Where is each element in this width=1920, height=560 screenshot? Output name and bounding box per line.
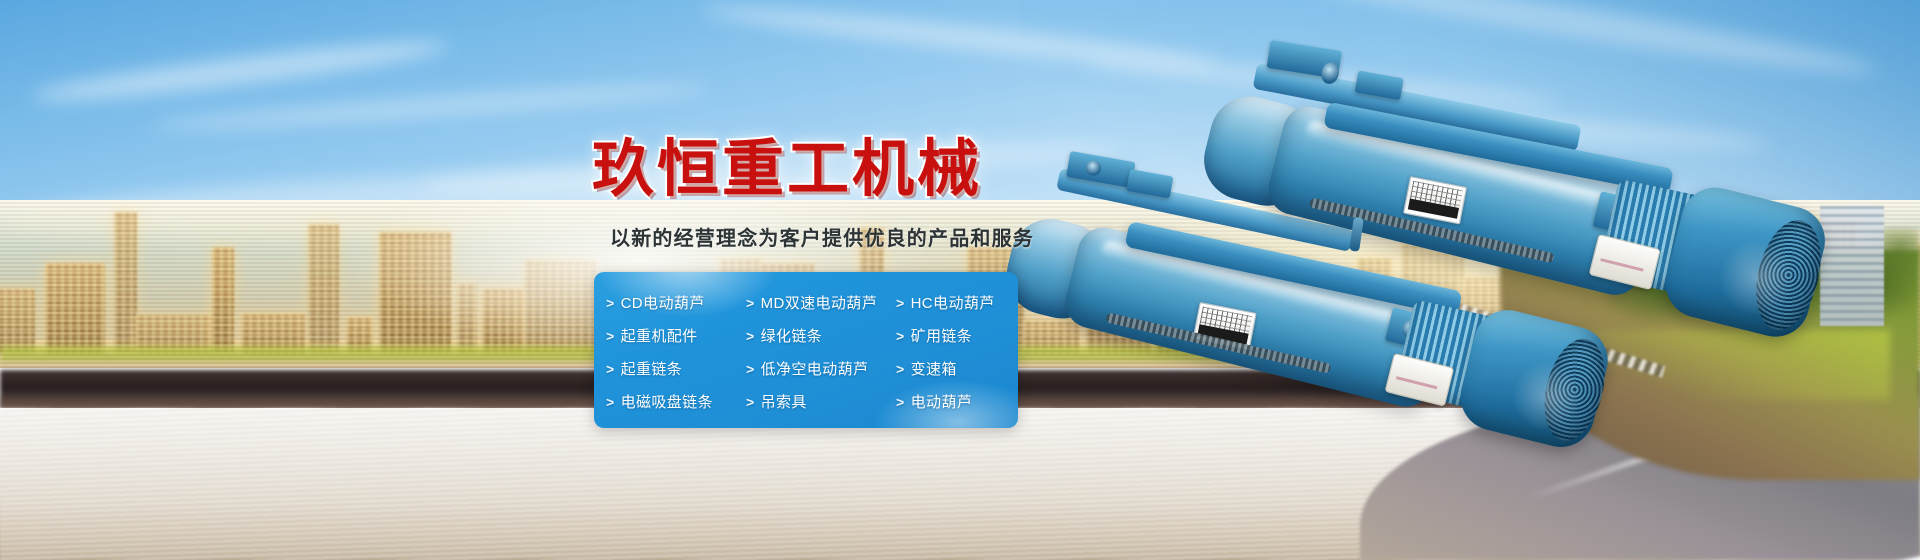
product-link[interactable]: >MD双速电动葫芦 (746, 292, 896, 313)
page-title: 玖恒重工机械 (592, 118, 982, 208)
lane-marking (1449, 548, 1920, 560)
building (0, 288, 35, 354)
product-link-label: 电磁吸盘链条 (621, 391, 713, 412)
product-link[interactable]: >起重链条 (606, 358, 746, 379)
building (457, 283, 477, 354)
building (45, 263, 105, 354)
chevron-right-icon: > (896, 394, 905, 410)
chevron-right-icon: > (896, 328, 905, 344)
chevron-right-icon: > (606, 394, 615, 410)
building (524, 260, 596, 354)
product-link[interactable]: >HC电动葫芦 (896, 292, 1030, 313)
hoist-junction-box-label (1396, 376, 1437, 389)
product-link-label: 低净空电动葫芦 (761, 358, 869, 379)
product-link[interactable]: >CD电动葫芦 (606, 292, 746, 313)
product-link-label: 变速箱 (911, 358, 957, 379)
product-links-grid: >CD电动葫芦>MD双速电动葫芦>HC电动葫芦>起重机配件>绿化链条>矿用链条>… (594, 286, 1018, 418)
product-link-label: 绿化链条 (761, 325, 823, 346)
hero-banner: 玖恒重工机械 以新的经营理念为客户提供优良的产品和服务 >CD电动葫芦>MD双速… (0, 0, 1920, 560)
building (212, 247, 234, 354)
product-link-label: CD电动葫芦 (621, 292, 705, 313)
chevron-right-icon: > (606, 361, 615, 377)
background-tower (1820, 206, 1884, 326)
chevron-right-icon: > (606, 328, 615, 344)
product-link-label: 吊索具 (761, 391, 807, 412)
hoist-junction-box-label (1601, 258, 1644, 271)
chevron-right-icon: > (896, 295, 905, 311)
product-link-label: MD双速电动葫芦 (761, 292, 878, 313)
chevron-right-icon: > (606, 295, 615, 311)
product-link[interactable]: >绿化链条 (746, 325, 896, 346)
product-link-label: HC电动葫芦 (911, 292, 995, 313)
product-link-label: 起重链条 (621, 358, 683, 379)
product-link-label: 矿用链条 (911, 325, 973, 346)
product-link[interactable]: >变速箱 (896, 358, 1030, 379)
chevron-right-icon: > (746, 295, 755, 311)
product-link-label: 电动葫芦 (911, 391, 973, 412)
product-links-panel: >CD电动葫芦>MD双速电动葫芦>HC电动葫芦>起重机配件>绿化链条>矿用链条>… (594, 272, 1018, 428)
product-link[interactable]: >低净空电动葫芦 (746, 358, 896, 379)
building (482, 288, 524, 354)
building (308, 224, 339, 354)
building (379, 232, 451, 354)
chevron-right-icon: > (746, 394, 755, 410)
product-link[interactable]: >电动葫芦 (896, 391, 1030, 412)
product-link[interactable]: >电磁吸盘链条 (606, 391, 746, 412)
product-link[interactable]: >起重机配件 (606, 325, 746, 346)
product-link-label: 起重机配件 (621, 325, 698, 346)
page-subtitle: 以新的经营理念为客户提供优良的产品和服务 (610, 222, 1034, 251)
building (114, 212, 137, 354)
product-link[interactable]: >吊索具 (746, 391, 896, 412)
chevron-right-icon: > (746, 361, 755, 377)
product-link[interactable]: >矿用链条 (896, 325, 1030, 346)
chevron-right-icon: > (746, 328, 755, 344)
chevron-right-icon: > (896, 361, 905, 377)
